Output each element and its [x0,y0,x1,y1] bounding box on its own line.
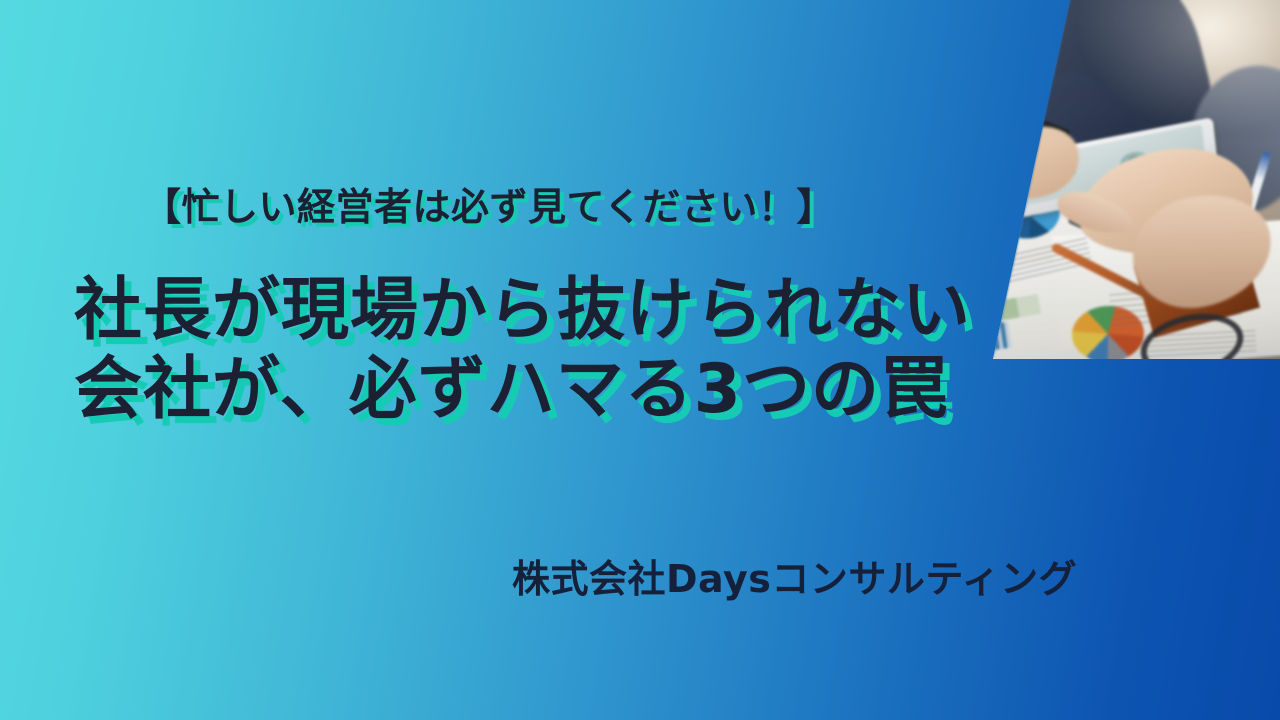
subtitle-kicker: 【忙しい経営者は必ず見てください！】 [143,176,835,231]
presentation-slide: 【忙しい経営者は必ず見てください！】 社長が現場から抜けられない 会社が、必ずハ… [0,0,1280,720]
company-name: 株式会社Daysコンサルティング [512,548,1077,603]
headline-line-1: 社長が現場から抜けられない [74,272,971,351]
photo-color-grade [960,0,1280,359]
page-title: 社長が現場から抜けられない 会社が、必ずハマる3つの罠 [74,272,971,430]
photo-image [960,0,1280,359]
business-meeting-photo [960,0,1280,359]
headline-line-2: 会社が、必ずハマる3つの罠 [74,351,971,430]
